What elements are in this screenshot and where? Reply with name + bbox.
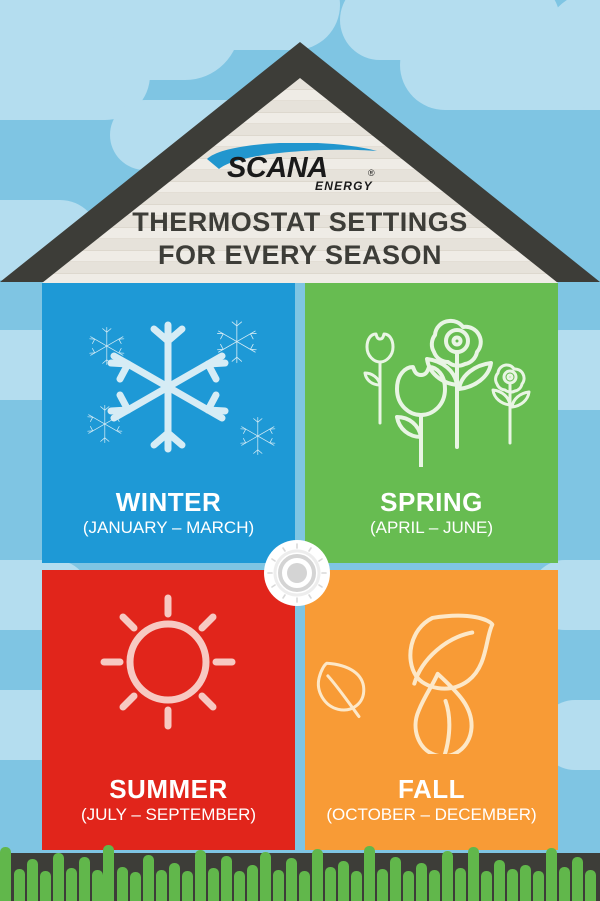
scana-energy-logo: SCANA ® ENERGY (205, 143, 395, 193)
season-label-winter: WINTER (JANUARY – MARCH) (42, 487, 295, 539)
grass-blade (208, 868, 219, 901)
grass-blade (377, 869, 388, 901)
grass-blade (338, 861, 349, 901)
grass-blade (182, 871, 193, 901)
grass-blade (273, 870, 284, 901)
season-name: WINTER (42, 487, 295, 517)
grass-blade (351, 871, 362, 901)
grass-blade (286, 858, 297, 901)
sun-icon (42, 584, 295, 754)
grass-blade (103, 845, 114, 901)
grass-blade (559, 867, 570, 901)
season-card-summer[interactable]: SUMMER (JULY – SEPTEMBER) (42, 570, 295, 850)
flowers-icon (305, 297, 558, 467)
grass-blade (156, 870, 167, 901)
grass-blade (79, 857, 90, 901)
logo-svg: SCANA ® ENERGY (205, 143, 395, 193)
grass-row (0, 829, 600, 901)
title-line-2: FOR EVERY SEASON (0, 239, 600, 272)
grass-blade (169, 863, 180, 901)
grass-blade (53, 853, 64, 901)
grass-blade (66, 868, 77, 901)
grass-blade (143, 855, 154, 901)
grass-blade (234, 871, 245, 901)
season-card-fall[interactable]: FALL (OCTOBER – DECEMBER) (305, 570, 558, 850)
grass-blade (247, 865, 258, 901)
grass-blade (0, 847, 11, 901)
logo-subtitle: ENERGY (315, 179, 373, 193)
grass-blade (14, 869, 25, 901)
grass-blade (442, 851, 453, 901)
season-name: SUMMER (42, 774, 295, 804)
season-months: (APRIL – JUNE) (305, 517, 558, 539)
season-label-summer: SUMMER (JULY – SEPTEMBER) (42, 774, 295, 826)
grass-blade (117, 867, 128, 901)
grass-blade (195, 850, 206, 901)
grass-blade (494, 860, 505, 901)
grass-blade (299, 871, 310, 901)
grass-blade (390, 857, 401, 901)
season-label-spring: SPRING (APRIL – JUNE) (305, 487, 558, 539)
grass-blade (92, 870, 103, 901)
grass-blade (481, 871, 492, 901)
season-card-spring[interactable]: SPRING (APRIL – JUNE) (305, 283, 558, 563)
grass-blade (520, 865, 531, 901)
season-name: FALL (305, 774, 558, 804)
title-line-1: THERMOSTAT SETTINGS (0, 206, 600, 239)
grass-blade (507, 869, 518, 901)
grass-blade (455, 868, 466, 901)
season-months: (OCTOBER – DECEMBER) (305, 804, 558, 826)
grass-blade (312, 849, 323, 901)
snowflake-icon (42, 297, 295, 467)
infographic-poster: SCANA ® ENERGY THERMOSTAT SETTINGS FOR E… (0, 0, 600, 901)
grass-blade (585, 870, 596, 901)
grass-blade (40, 871, 51, 901)
grass-blade (546, 848, 557, 901)
season-label-fall: FALL (OCTOBER – DECEMBER) (305, 774, 558, 826)
grass-blade (221, 856, 232, 901)
grass-blade (403, 871, 414, 901)
grass-blade (429, 870, 440, 901)
thermostat-dial-icon[interactable] (264, 540, 330, 606)
grass-blade (416, 863, 427, 901)
grass-blade (130, 872, 141, 901)
grass-blade (260, 852, 271, 901)
grass-blade (364, 846, 375, 901)
grass-blade (325, 867, 336, 901)
grass-blade (468, 847, 479, 901)
logo-registered-mark: ® (368, 168, 375, 178)
leaves-icon (305, 584, 558, 754)
grass-blade (27, 859, 38, 901)
season-name: SPRING (305, 487, 558, 517)
grass-blade (572, 857, 583, 901)
grass-blade (533, 871, 544, 901)
season-months: (JANUARY – MARCH) (42, 517, 295, 539)
season-months: (JULY – SEPTEMBER) (42, 804, 295, 826)
logo-wordmark: SCANA (227, 152, 328, 184)
page-title: THERMOSTAT SETTINGS FOR EVERY SEASON (0, 206, 600, 272)
season-card-winter[interactable]: WINTER (JANUARY – MARCH) (42, 283, 295, 563)
